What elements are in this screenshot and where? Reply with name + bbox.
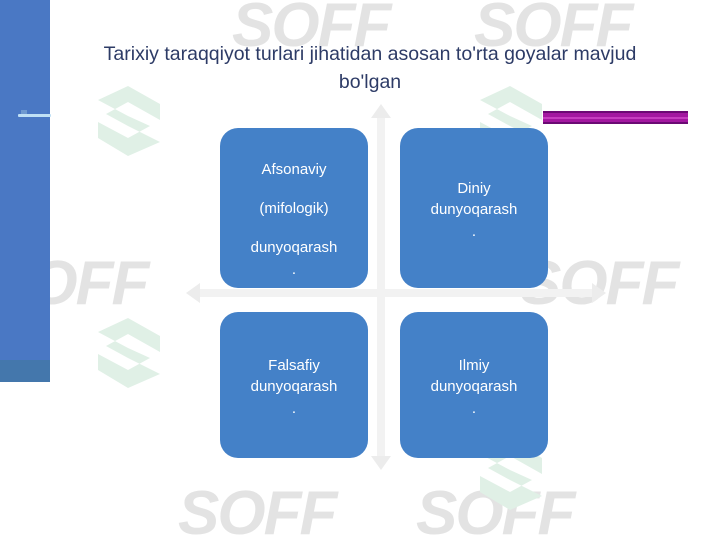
- quadrant-box-top-left[interactable]: Afsonaviy (mifologik) dunyoqarash .: [220, 128, 368, 288]
- quadrant-box-bottom-right[interactable]: Ilmiy dunyoqarash .: [400, 312, 548, 458]
- quadrant-dot: .: [472, 226, 476, 238]
- slide-canvas: SOFF SOFF SOFF SOFF SOFF SOFF: [0, 0, 720, 540]
- quadrant-dot: .: [472, 403, 476, 415]
- quadrant-dot: .: [292, 264, 296, 276]
- quadrant-label-line1: Ilmiy: [459, 355, 490, 376]
- quadrant-label-line1: Afsonaviy: [261, 159, 326, 180]
- watermark-logo-icon: [98, 86, 160, 156]
- quadrant-label-line1: Falsafiy: [268, 355, 320, 376]
- quadrant-label-line2: (mifologik): [259, 198, 328, 219]
- page-title: Tarixiy taraqqiyot turlari jihatidan aso…: [70, 40, 670, 96]
- accent-bar: [543, 111, 688, 124]
- quadrant-box-top-right[interactable]: Diniy dunyoqarash .: [400, 128, 548, 288]
- quadrant-label-line3: dunyoqarash: [251, 237, 338, 258]
- sidebar-marker-line: [18, 114, 51, 117]
- sidebar-footer-band: [0, 360, 50, 382]
- left-sidebar-band: [0, 0, 50, 382]
- watermark-logo-icon: [98, 318, 160, 388]
- quadrant-box-bottom-left[interactable]: Falsafiy dunyoqarash .: [220, 312, 368, 458]
- quadrant-label-line1: Diniy: [457, 178, 490, 199]
- watermark-text: SOFF: [416, 478, 573, 540]
- quadrant-label-line2: dunyoqarash: [251, 376, 338, 397]
- watermark-text: SOFF: [178, 478, 335, 540]
- quadrant-dot: .: [292, 403, 296, 415]
- quadrant-label-line2: dunyoqarash: [431, 376, 518, 397]
- quadrant-label-line2: dunyoqarash: [431, 199, 518, 220]
